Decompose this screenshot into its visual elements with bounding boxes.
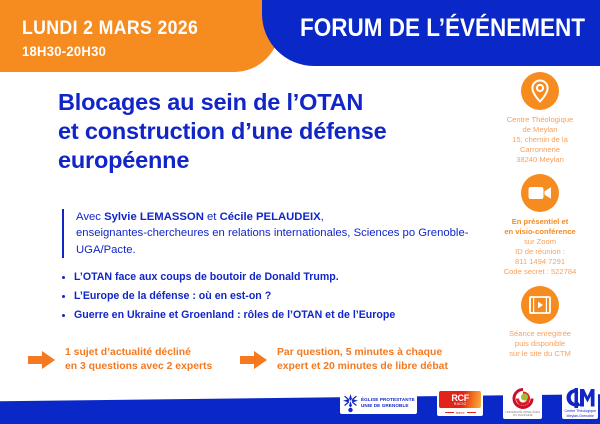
format-note-2-line-2: expert et 20 minutes de libre débat	[277, 360, 448, 374]
ctm-line-1: Centre Théologique	[564, 409, 596, 414]
speakers-block: Avec Sylvie LEMASSON et Cécile PELAUDEIX…	[62, 209, 476, 258]
online-line-3: sur Zoom	[484, 237, 596, 247]
replay-line-2: puis disponible	[484, 339, 596, 349]
rcf-region: Isère	[456, 410, 465, 415]
online-line-5: 811 1494 7291	[484, 257, 596, 267]
format-note-1: 1 sujet d’actualité décliné en 3 questio…	[28, 346, 212, 375]
ctm-line-2: Meylan-Grenoble	[564, 414, 596, 419]
info-sidebar: Centre Théologique de Meylan 15, chemin …	[484, 72, 596, 368]
arrow-right-icon	[28, 348, 56, 372]
rcf-sub: RADIO	[454, 403, 467, 406]
venue-line-4: Carronnerie	[484, 145, 596, 155]
film-play-icon	[521, 286, 559, 324]
title-line-3: européenne	[58, 146, 478, 175]
replay-line-3: sur le site du CTM	[484, 349, 596, 359]
uiad-line-2: DU DAUPHINÉ	[505, 414, 540, 418]
online-line-1: En présentiel et	[484, 217, 596, 227]
replay-block: Séance enregitrée puis disponible sur le…	[484, 286, 596, 359]
speakers-suffix: ,	[321, 211, 324, 223]
uiad-spiral-icon: UIAD	[511, 388, 535, 410]
venue-text: Centre Théologique de Meylan 15, chemin …	[484, 115, 596, 165]
uiad-name: UIAD	[515, 403, 530, 409]
title-line-1: Blocages au sein de l’OTAN	[58, 88, 478, 117]
rcf-region-row: Isère	[445, 410, 476, 415]
video-camera-icon	[521, 174, 559, 212]
format-note-2-line-1: Par question, 5 minutes à chaque	[277, 346, 448, 360]
online-text: En présentiel et en visio-conférence sur…	[484, 217, 596, 277]
partner-logos: ÉGLISE PROTESTANTE UNIE DE GRENOBLE RCF …	[340, 384, 598, 422]
speakers-role: enseignantes-chercheures en relations in…	[76, 225, 476, 258]
list-item: Guerre en Ukraine et Groenland : rôles d…	[58, 310, 478, 321]
format-note-2: Par question, 5 minutes à chaque expert …	[240, 346, 448, 375]
logo-eglise-protestante-unie: ÉGLISE PROTESTANTE UNIE DE GRENOBLE	[340, 392, 417, 414]
logo-uiad: UIAD UNIVERSITÉ INTER-ÂGES DU DAUPHINÉ	[503, 387, 542, 419]
speaker-name-2: Cécile PELAUDEIX	[220, 211, 321, 223]
speaker-name-1: Sylvie LEMASSON	[104, 211, 204, 223]
venue-block: Centre Théologique de Meylan 15, chemin …	[484, 72, 596, 165]
replay-line-1: Séance enregitrée	[484, 329, 596, 339]
logo-rcf-radio: RCF RADIO Isère	[437, 390, 483, 416]
forum-banner-title: FORUM DE L’ÉVÉNEMENT	[300, 14, 585, 43]
location-pin-icon	[521, 72, 559, 110]
list-item: L’Europe de la défense : où en est-on ?	[58, 291, 478, 302]
rcf-badge: RCF RADIO	[439, 391, 481, 408]
online-line-2: en visio-conférence	[484, 227, 596, 237]
venue-line-2: de Meylan	[484, 125, 596, 135]
page-title: Blocages au sein de l’OTAN et constructi…	[58, 88, 478, 175]
huguenot-cross-icon	[342, 393, 359, 413]
rule-left	[445, 412, 454, 413]
ctm-monogram-icon	[565, 388, 595, 408]
arrow-right-icon	[240, 348, 268, 372]
rule-right	[467, 412, 476, 413]
logo-ctm: Centre Théologique Meylan-Grenoble	[562, 387, 598, 419]
venue-line-5: 38240 Meylan	[484, 155, 596, 165]
epu-line-2: UNIE DE GRENOBLE	[361, 403, 415, 409]
speakers-conjunction: et	[204, 211, 220, 223]
event-date: LUNDI 2 MARS 2026	[22, 18, 198, 40]
speakers-prefix: Avec	[76, 211, 104, 223]
online-block: En présentiel et en visio-conférence sur…	[484, 174, 596, 277]
venue-line-3: 15, chemin de la	[484, 135, 596, 145]
format-note-2-text: Par question, 5 minutes à chaque expert …	[277, 346, 448, 375]
online-line-4: ID de réunion :	[484, 247, 596, 257]
title-line-2: et construction d’une défense	[58, 117, 478, 146]
topic-list: L’OTAN face aux coups de boutoir de Dona…	[58, 272, 478, 329]
format-note-1-text: 1 sujet d’actualité décliné en 3 questio…	[65, 346, 212, 375]
list-item: L’OTAN face aux coups de boutoir de Dona…	[58, 272, 478, 283]
online-line-6: Code secret : 522784	[484, 267, 596, 277]
replay-text: Séance enregitrée puis disponible sur le…	[484, 329, 596, 359]
event-poster: LUNDI 2 MARS 2026 18H30-20H30 FORUM DE L…	[0, 0, 600, 424]
event-time: 18H30-20H30	[22, 43, 106, 59]
format-note-1-line-1: 1 sujet d’actualité décliné	[65, 346, 212, 360]
venue-line-1: Centre Théologique	[484, 115, 596, 125]
format-note-1-line-2: en 3 questions avec 2 experts	[65, 360, 212, 374]
